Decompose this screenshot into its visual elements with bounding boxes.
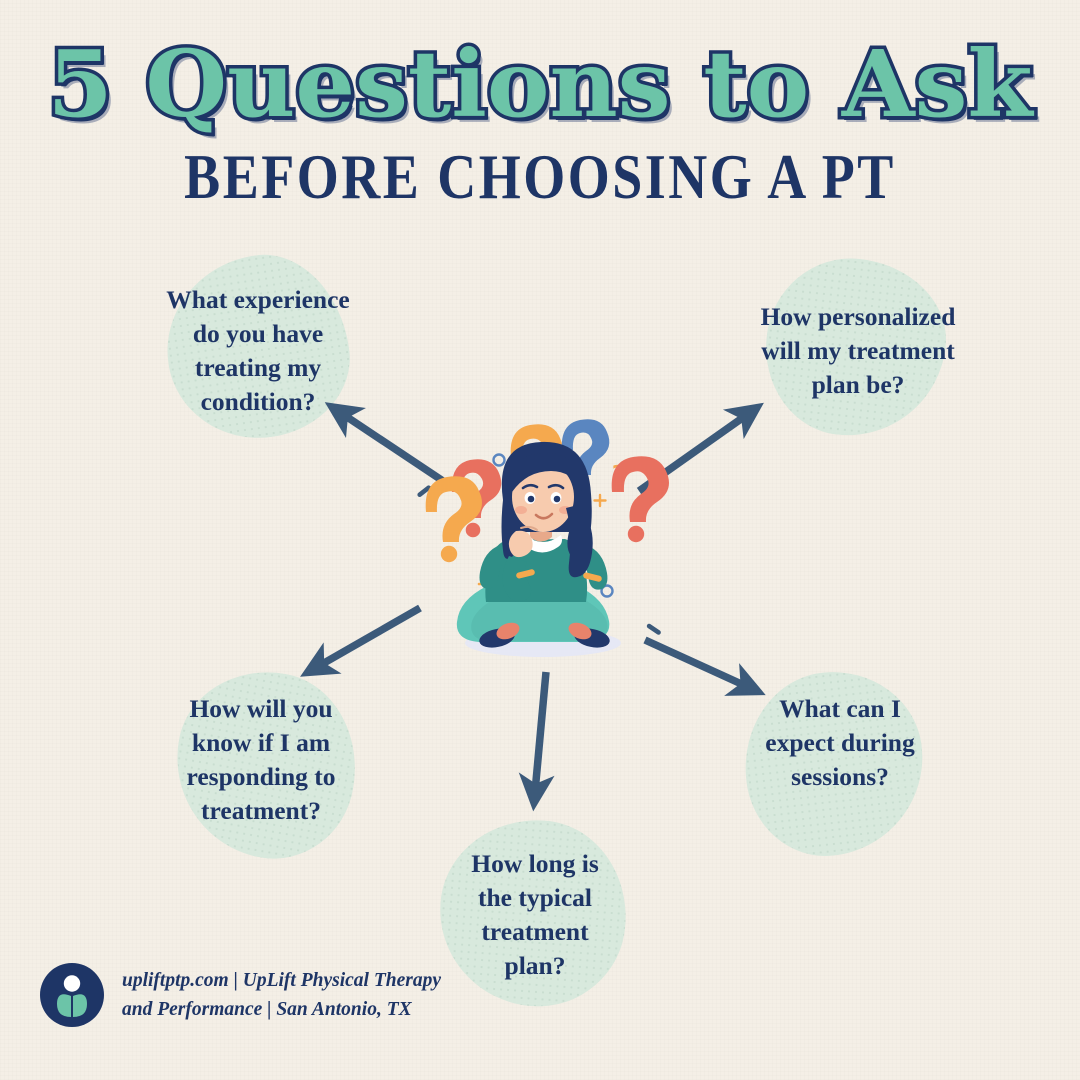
- woman-thinking-illustration: ?: [416, 419, 669, 657]
- arrow-to-bottom-right: [645, 640, 748, 687]
- question-label-bottom-right: What can I expect during sessions?: [730, 692, 950, 794]
- question-label-bottom-center: How long is the typical treatment plan?: [428, 847, 642, 983]
- question-label-top-right: How personalized will my treatment plan …: [740, 300, 976, 402]
- uplift-logo-icon: [40, 963, 104, 1027]
- pupil-right: [554, 496, 561, 503]
- question-label-bottom-left: How will you know if I am responding to …: [148, 692, 374, 828]
- question-label-top-left: What experience do you have treating my …: [140, 283, 376, 419]
- arrow-to-bottom-center: [535, 672, 546, 792]
- footer: upliftptp.com | UpLift Physical Therapy …: [40, 963, 441, 1027]
- footer-text: upliftptp.com | UpLift Physical Therapy …: [122, 966, 441, 1025]
- pupil-left: [528, 496, 535, 503]
- arrow-to-top-left: [341, 413, 452, 487]
- question-mark-orange-left: [426, 476, 482, 562]
- infographic-canvas: 5 Questions to Ask BEFORE CHOOSING A PT: [0, 0, 1080, 1080]
- arrow-to-bottom-left: [317, 608, 420, 667]
- question-mark-red-right: [612, 456, 669, 542]
- blush-left: [515, 506, 527, 514]
